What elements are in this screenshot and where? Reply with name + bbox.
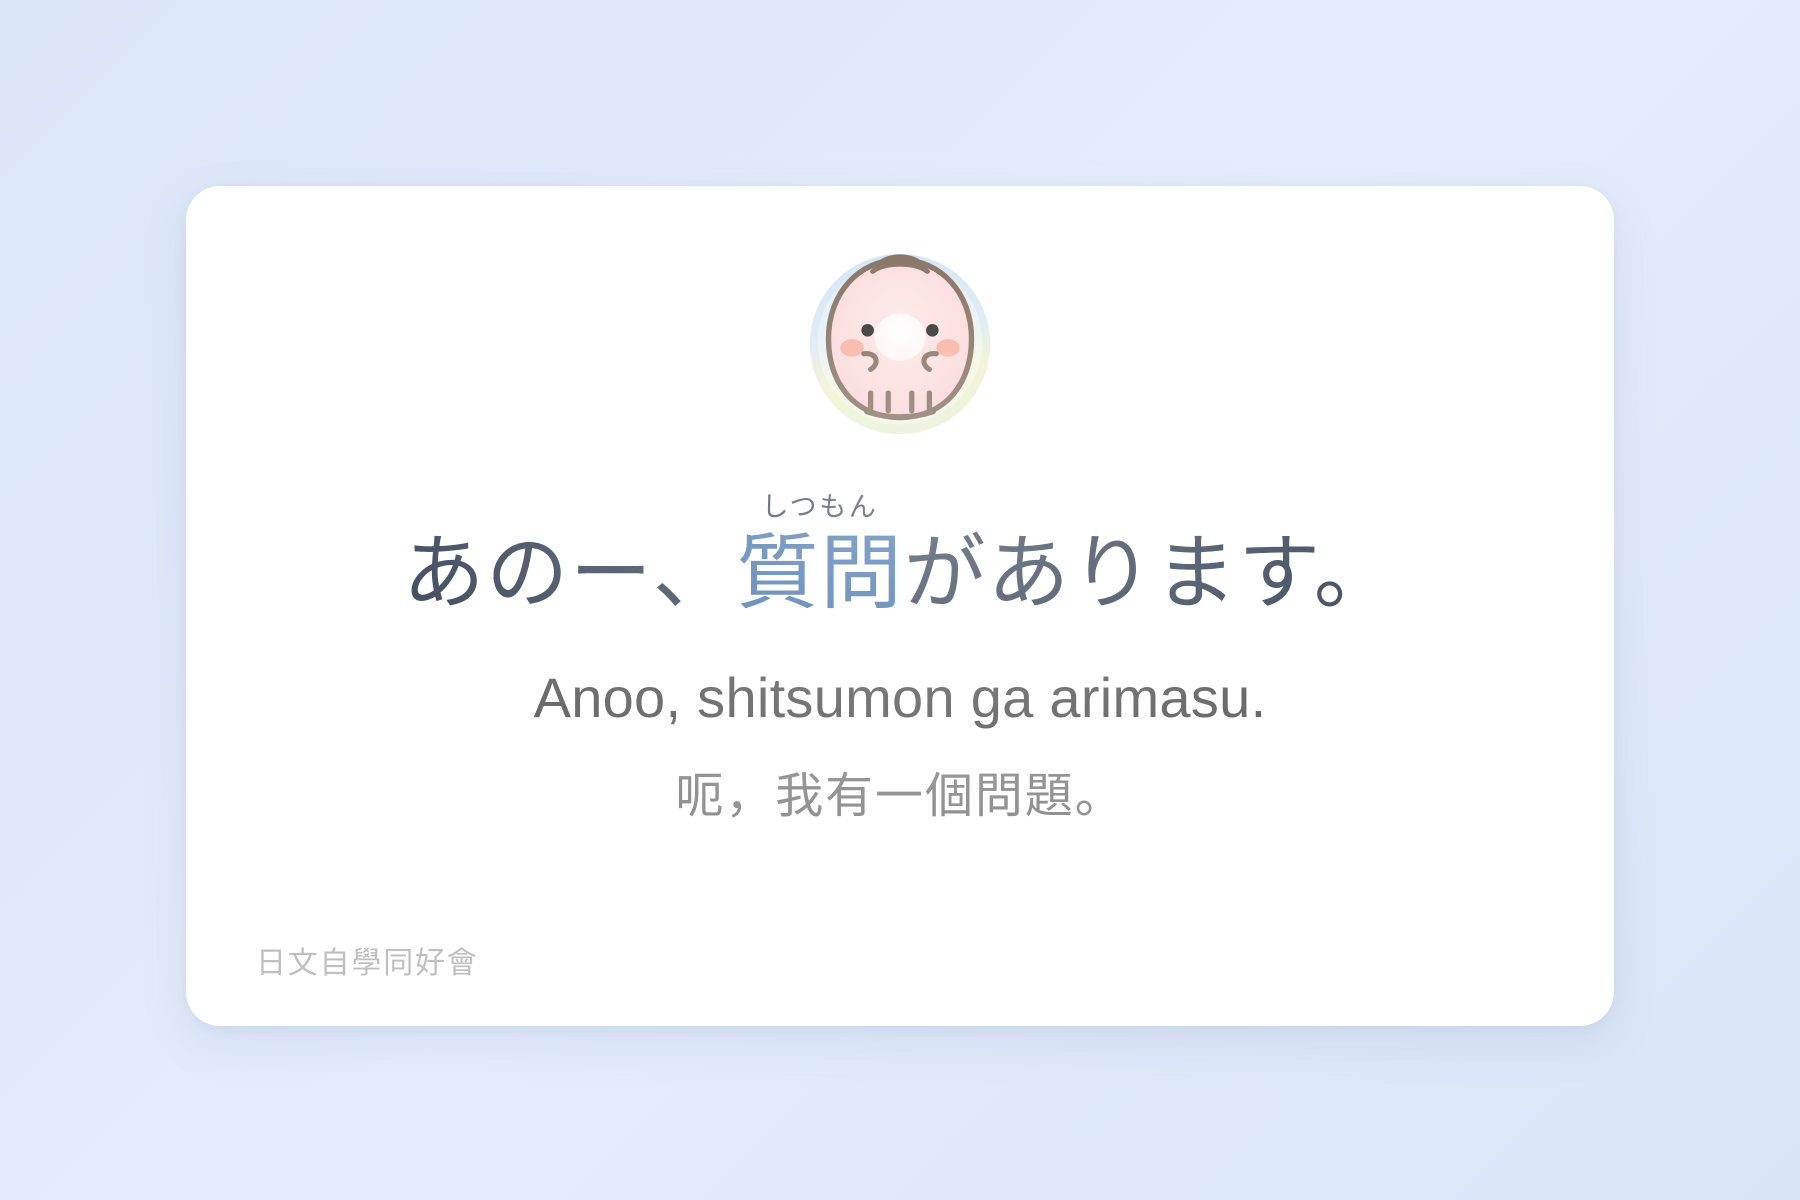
sentence-segment-3: があります。: [904, 533, 1398, 615]
sentence-segment-2-ruby: しつもん 質問: [736, 494, 903, 615]
japanese-sentence: あのー、 しつもん 質問 があります。: [403, 494, 1398, 615]
sentence-segment-1: あのー、: [403, 533, 737, 615]
footer-brand: 日文自學同好會: [256, 938, 479, 982]
phrase-card: あのー、 しつもん 質問 があります。 Anoo, shitsumon ga a…: [186, 186, 1614, 1026]
mascot-avatar-icon: [802, 246, 998, 442]
translation-text: 呃，我有一個問題。: [675, 756, 1124, 826]
page-background: あのー、 しつもん 質問 があります。 Anoo, shitsumon ga a…: [0, 0, 1800, 1200]
romaji-text: Anoo, shitsumon ga arimasu.: [534, 665, 1267, 730]
furigana-shitsumon: しつもん: [761, 494, 878, 521]
sentence-segment-2: 質問: [736, 533, 903, 615]
